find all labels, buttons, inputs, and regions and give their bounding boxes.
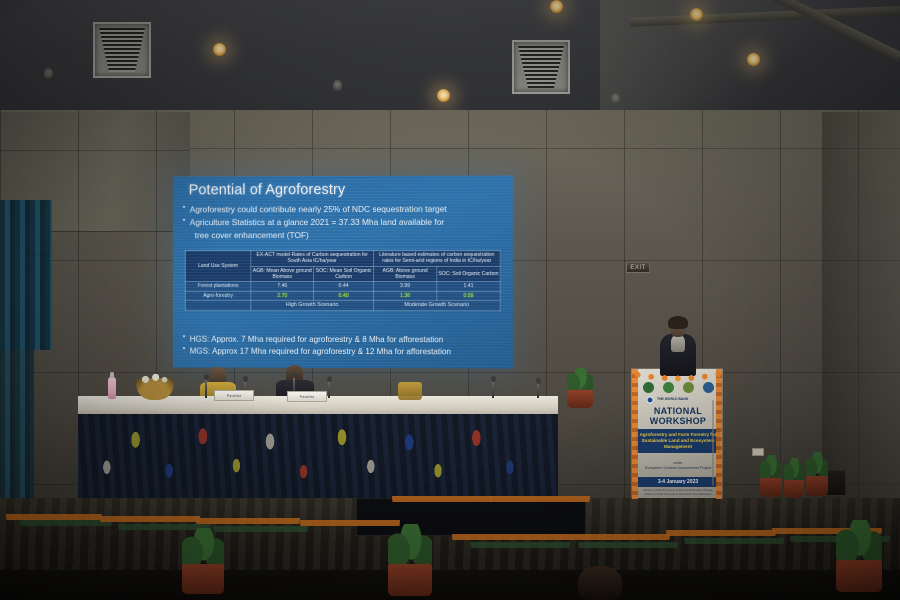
slide-footnotes: HGS: Approx. 7 Mha required for agrofore… [183,334,507,359]
table-cell-highlighted: 0.40 [314,291,374,301]
scenario-high-growth: High Growth Scenario [251,301,374,311]
curtain-mid-left [0,200,52,350]
microphone-icon [492,380,494,398]
potted-plant [760,455,782,497]
ceiling-light-icon [747,53,760,66]
table-row: Agro-forestry 2.70 0.40 1.36 0.59 [185,291,500,301]
dais-table-skirt [78,414,558,500]
banner-subtitle: Agroforestry and Farm Forestry for Susta… [636,429,720,453]
ceiling-light-off-icon [333,80,342,91]
air-vent-icon [512,40,570,94]
slide-bullet: Agriculture Statistics at a glance 2021 … [183,217,507,229]
table-subheader: AGB: Mean Above ground Biomass [251,266,314,282]
audience-head-silhouette [578,566,622,600]
plant-pot [760,478,782,497]
table-cell-highlighted: 2.70 [251,291,314,301]
power-cable [712,400,714,486]
world-bank-logo: THE WORLD BANK [646,395,712,404]
table-scenario-spacer [185,301,251,311]
table-subheader: SOC: Soil Organic Carbon [437,266,500,282]
projection-screen: Potential of Agroforestry Agroforestry c… [173,176,513,369]
organisation-logo-icon [703,382,714,393]
speaker-hair [668,316,688,329]
table-group-header-exact: EX-ACT model Rates of Carbon sequestrati… [251,250,374,266]
potted-plant [784,458,804,498]
ceiling-light-icon [550,0,563,13]
table-group-header-literature: Literature based estimates of carbon seq… [374,250,501,266]
ceiling-light-icon [690,8,703,21]
name-plate-left: Panelist [214,390,254,401]
garland-icon [716,369,723,500]
table-cell: 1.41 [437,282,500,292]
table-cell-highlighted: 0.59 [437,291,500,301]
ceiling-light-off-icon [611,93,620,104]
slide-bullet-list: Agroforestry could contribute nearly 25%… [183,204,507,243]
plant-pot [388,564,432,596]
plant-leaves [182,528,224,569]
organisation-logo-icon [683,382,694,393]
plant-pot [784,480,804,498]
ceiling-light-icon [213,43,226,56]
water-bottle-cluster [398,382,422,400]
potted-plant [567,368,593,408]
banner-organiser-name: Ecosystem Services Improvement Project [640,466,716,471]
microphone-icon [537,382,539,398]
table-cell: 0.44 [314,282,374,292]
slide-footnote-hgs: HGS: Approx. 7 Mha required for agrofore… [183,334,507,347]
slide-title: Potential of Agroforestry [189,182,346,198]
organisation-logo-icon [663,382,674,393]
table-row: Forest plantations 7.46 0.44 3.99 1.41 [185,282,500,292]
banner-heading-line2: WORKSHOP [632,417,723,427]
scenario-moderate-growth: Moderate Growth Scenario [374,301,501,311]
potted-plant [388,524,432,596]
banner-footer: Ministry of Environment, Forest and Clim… [638,489,718,497]
slide-bullet-continuation: tree cover enhancement (TOF) [183,230,507,242]
right-wall-pillar [822,112,900,532]
table-subheader: AGB: Above ground Biomass [374,266,437,282]
name-plate-right: Panelist [287,391,327,402]
table-row-label: Agro-forestry [185,291,251,301]
plant-pot [567,390,593,408]
ceiling-light-icon [437,89,450,102]
ceiling-light-off-icon [44,68,53,79]
slide-footnote-mgs: MGS: Approx 17 Mha required for agrofore… [183,346,507,359]
sanitizer-bottle [108,377,116,399]
table-corner-header: Land Use System [185,251,251,282]
podium-with-banner: THE WORLD BANK NATIONAL WORKSHOP Agrofor… [631,368,723,500]
plant-pot [836,560,882,592]
world-bank-label: THE WORLD BANK [657,398,688,402]
conference-hall-scene: EXIT EXIT Potential of Agroforestry Agro… [0,0,900,600]
speaker-person [660,318,696,374]
table-cell: 7.46 [251,282,314,292]
name-plate-label: Panelist [300,395,314,399]
plant-leaves [388,524,432,569]
world-bank-mark-icon [646,396,654,404]
table-subheader: SOC: Mean Soil Organic Carbon [314,266,374,282]
plant-leaves [806,452,828,479]
banner-heading: NATIONAL WORKSHOP [632,407,723,426]
plant-leaves [836,520,882,565]
banner-date: 3-4 January 2023 [638,477,718,487]
banner-footer-line2: Indian Council of Forestry Research and … [638,493,718,497]
air-vent-icon [93,22,151,78]
potted-plant [836,520,882,592]
garland-icon [631,369,638,500]
table-cell: 3.99 [374,282,437,292]
exit-sign-right: EXIT [626,262,650,273]
plant-pot [806,476,828,496]
table-scenario-row: High Growth Scenario Moderate Growth Sce… [185,301,500,311]
microphone-icon [205,378,207,398]
slide-bullet: Agroforestry could contribute nearly 25%… [183,204,507,217]
exit-sign-label: EXIT [630,265,645,271]
microphone-icon [328,380,330,398]
potted-plant [806,452,828,496]
plant-pot [182,564,224,594]
carbon-sequestration-table: Land Use System EX-ACT model Rates of Ca… [185,250,501,311]
floral-skirt-pattern [78,414,558,500]
marigold-garland-icon [631,368,723,382]
organisation-logo-icon [643,382,654,393]
speaker-scarf [671,335,685,352]
banner-organiser: under Ecosystem Services Improvement Pro… [640,461,716,471]
name-plate-label: Panelist [227,394,241,398]
ceiling [0,0,900,118]
potted-plant [182,528,224,594]
table-cell-highlighted: 1.36 [374,291,437,301]
table-header-row: Land Use System EX-ACT model Rates of Ca… [185,250,500,266]
table-row-label: Forest plantations [185,282,251,291]
